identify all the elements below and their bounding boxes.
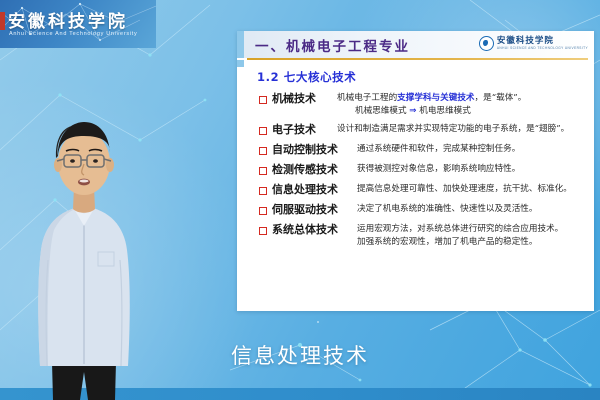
desc-line-2: 加强系统的宏观性，增加了机电产品的稳定性。	[357, 236, 586, 249]
badge-red-accent	[0, 12, 5, 30]
badge-chinese-name: 安徽科技学院	[8, 7, 152, 32]
item-description: 运用宏观方法，对系统总体进行研究的综合应用技术。 加强系统的宏观性，增加了机电产…	[357, 223, 586, 248]
item-description: 机械电子工程的支撑学科与关键技术，是“载体”。 机械思维模式 ⇒ 机电思维模式	[337, 92, 586, 117]
lecture-caption: 信息处理技术	[0, 340, 600, 370]
square-bullet-icon	[259, 127, 267, 135]
slide-header: 一、机械电子工程专业 安徽科技学院 ANHUI SCIENCE AND TECH…	[237, 31, 594, 58]
university-logo-text: 安徽科技学院 ANHUI SCIENCE AND TECHNOLOGY UNIV…	[497, 37, 588, 50]
item-term: 系统总体技术	[272, 223, 350, 237]
university-emblem-icon	[479, 36, 494, 51]
badge-english-name: Anhui Science And Technology University	[9, 31, 154, 37]
list-item: 检测传感技术 获得被测控对象信息，影响系统响应特性。	[259, 163, 586, 177]
square-bullet-icon	[259, 96, 267, 104]
square-bullet-icon	[259, 187, 267, 195]
square-bullet-icon	[259, 207, 267, 215]
second-line-post: 机电思维模式	[417, 106, 471, 116]
list-item: 电子技术 设计和制造满足需求并实现特定功能的电子系统，是“翅膀”。	[259, 123, 586, 137]
list-item: 伺服驱动技术 决定了机电系统的准确性、快速性以及灵活性。	[259, 203, 586, 217]
slide-body: 1.2 七大核心技术 机械技术 机械电子工程的支撑学科与关键技术，是“载体”。 …	[237, 60, 594, 248]
square-bullet-icon	[259, 167, 267, 175]
university-logo-badge: 安徽科技学院 Anhui Science And Technology Univ…	[0, 0, 156, 48]
desc-text-emphasis: 支撑学科与关键技术	[397, 93, 474, 103]
list-item: 系统总体技术 运用宏观方法，对系统总体进行研究的综合应用技术。 加强系统的宏观性…	[259, 223, 586, 248]
desc-second-line: 机械思维模式 ⇒ 机电思维模式	[355, 105, 586, 118]
desc-text-post: ，是“载体”。	[475, 93, 527, 103]
item-description: 设计和制造满足需求并实现特定功能的电子系统，是“翅膀”。	[337, 123, 586, 136]
item-term: 机械技术	[272, 92, 330, 106]
header-accent-bar-tail	[237, 60, 244, 67]
list-item: 机械技术 机械电子工程的支撑学科与关键技术，是“载体”。 机械思维模式 ⇒ 机电…	[259, 92, 586, 117]
item-description: 通过系统硬件和软件，完成某种控制任务。	[357, 143, 586, 156]
item-description: 提高信息处理可靠性、加快处理速度，抗干扰、标准化。	[357, 183, 586, 196]
item-description: 获得被测控对象信息，影响系统响应特性。	[357, 163, 586, 176]
slide-subtitle: 1.2 七大核心技术	[257, 69, 586, 85]
square-bullet-icon	[259, 147, 267, 155]
item-term: 信息处理技术	[272, 183, 350, 197]
desc-line-1: 运用宏观方法，对系统总体进行研究的综合应用技术。	[357, 224, 563, 234]
double-arrow-icon: ⇒	[409, 106, 416, 116]
square-bullet-icon	[259, 227, 267, 235]
header-accent-bar	[237, 31, 244, 58]
list-item: 自动控制技术 通过系统硬件和软件，完成某种控制任务。	[259, 143, 586, 157]
slide-university-logo: 安徽科技学院 ANHUI SCIENCE AND TECHNOLOGY UNIV…	[479, 36, 588, 51]
desc-text-pre: 机械电子工程的	[337, 93, 397, 103]
university-logo-cn: 安徽科技学院	[497, 37, 588, 46]
item-description: 决定了机电系统的准确性、快速性以及灵活性。	[357, 203, 586, 216]
item-term: 自动控制技术	[272, 143, 350, 157]
list-item: 信息处理技术 提高信息处理可靠性、加快处理速度，抗干扰、标准化。	[259, 183, 586, 197]
university-logo-en: ANHUI SCIENCE AND TECHNOLOGY UNIVERSITY	[497, 47, 588, 50]
item-term: 检测传感技术	[272, 163, 350, 177]
item-term: 伺服驱动技术	[272, 203, 350, 217]
slide-title: 一、机械电子工程专业	[255, 35, 410, 55]
video-lecture-frame: 安徽科技学院 Anhui Science And Technology Univ…	[0, 0, 600, 400]
presentation-slide: 一、机械电子工程专业 安徽科技学院 ANHUI SCIENCE AND TECH…	[237, 31, 594, 311]
item-term: 电子技术	[272, 123, 330, 137]
second-line-pre: 机械思维模式	[355, 106, 409, 116]
